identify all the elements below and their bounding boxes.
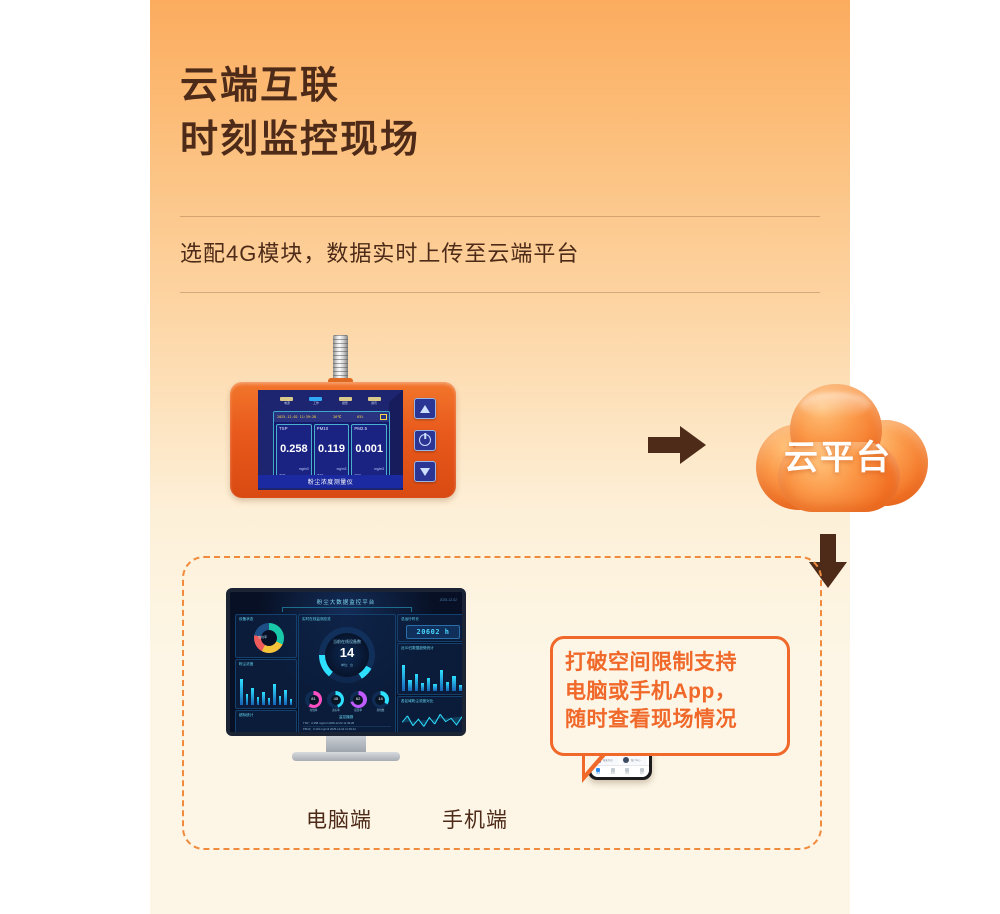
reading-card-tsp: TSP 0.258 mg/m3 实时: [276, 424, 312, 480]
dashboard-corner-text: 2025-12-02: [440, 598, 457, 602]
dashboard-title-decoration: [282, 607, 412, 612]
reading-unit-pm25: mg/m3: [374, 467, 384, 471]
dashboard-panel-trend: 近30日数据趋势统计: [397, 643, 466, 695]
region-line-chart: [402, 712, 462, 734]
bar-2: [408, 680, 411, 691]
content-column: 云端互联 时刻监控现场 选配4G模块，数据实时上传至云端平台 电源: [150, 0, 850, 914]
reading-value-tsp: 0.258: [277, 443, 311, 455]
dust-meter-device: 电源 工作 报警 通讯: [220, 330, 470, 510]
reading-unit-tsp: mg/m3: [299, 467, 309, 471]
up-key-button[interactable]: [414, 398, 436, 419]
page-subtitle: 选配4G模块，数据实时上传至云端平台: [180, 236, 820, 271]
label-mobile-endpoint: 手机端: [442, 804, 508, 834]
reading-name-pm10: PM10: [317, 426, 328, 431]
reading-card-pm25: PM2.5 0.001 mg/m3 实时: [351, 424, 387, 480]
runtime-hours-box: 20602 h: [406, 625, 460, 639]
page-title-line1: 云端互联: [180, 60, 820, 114]
bar-1: [240, 679, 243, 705]
bar-6: [433, 684, 436, 691]
dashboard-title: 粉尘大数据监控平台: [230, 598, 462, 606]
bar-7: [273, 684, 276, 705]
bar-4: [257, 697, 260, 705]
mini-label-2: 达标率: [327, 710, 344, 713]
device-case: 电源 工作 报警 通讯: [230, 382, 456, 498]
battery-icon: [380, 414, 387, 420]
lcd-temperature: 26℃: [333, 415, 341, 419]
panel-title-device-status: 设备状态: [239, 617, 253, 622]
phone-tab-label-alarm: 报警: [620, 772, 635, 775]
mini-label-3: 报警率: [350, 710, 367, 713]
reading-card-pm10: PM10 0.119 mg/m3 实时: [314, 424, 350, 480]
dashboard: 粉尘大数据监控平台 2025-12-02 设备状态 在线率 粉尘浓度 超标统计: [230, 592, 462, 732]
led-power: 电源: [277, 397, 297, 405]
trend-bar-chart: [402, 665, 462, 691]
reading-unit-pm10: mg/m3: [337, 467, 347, 471]
down-key-button[interactable]: [414, 461, 436, 482]
bar-5: [262, 692, 265, 705]
lcd-reading-cards: TSP 0.258 mg/m3 实时 PM10 0.119 mg/m3 实时: [274, 422, 389, 482]
mini-ring-1: 81: [305, 691, 322, 708]
mini-label-4: 离线数: [372, 710, 389, 713]
bar-9: [452, 676, 455, 691]
panel-title-overview: 实时在线监测总览: [302, 617, 331, 622]
divider-bottom: [180, 292, 820, 293]
panel-title-trend: 近30日数据趋势统计: [401, 646, 434, 651]
cloud-platform-label: 云平台: [738, 430, 938, 479]
dashboard-panel-concentration: 粉尘浓度: [235, 659, 297, 709]
led-comm: 通讯: [364, 397, 384, 405]
callout-line1: 打破空间限制支持: [565, 649, 775, 678]
triangle-up-icon: [420, 405, 430, 413]
mini-ring-4: 14: [372, 691, 389, 708]
panel-title-region-compare: 各区域粉尘浓度对比: [401, 699, 433, 704]
user-icon: [623, 757, 629, 763]
infographic-page: 云端互联 时刻监控现场 选配4G模块，数据实时上传至云端平台 电源: [0, 0, 1000, 914]
mini-label-1: 在线率: [305, 710, 322, 713]
bar-10: [290, 699, 293, 705]
bar-4: [421, 683, 424, 691]
page-title-line2: 时刻监控现场: [180, 114, 820, 168]
bar-5: [427, 678, 430, 691]
gauge-subtext: 单位：台: [319, 663, 375, 667]
phone-tab-alarm[interactable]: 报警: [620, 766, 635, 777]
cloud-gloss-highlight: [800, 392, 870, 418]
bar-3: [415, 674, 418, 691]
callout-bubble: 打破空间限制支持 电脑或手机App， 随时查看现场情况: [550, 636, 790, 756]
mini-value-3: 62: [350, 696, 367, 701]
monitor-log-rows: TSP：0.258 mg/m3 2025-12-02 11:39:28PM10：…: [303, 721, 391, 736]
sensor-probe-icon: [333, 335, 348, 383]
callout-line3: 随时查看现场情况: [565, 706, 775, 735]
panel-title-concentration: 粉尘浓度: [239, 662, 253, 667]
concentration-bar-chart: [240, 679, 292, 705]
donut-center-label: 在线率: [258, 635, 267, 639]
bar-1: [402, 665, 405, 691]
power-icon: [419, 434, 431, 446]
led-label-alarm: 报警: [336, 402, 354, 405]
mini-ring-2: 45: [327, 691, 344, 708]
header-block: 云端互联 时刻监控现场: [180, 60, 820, 168]
arrow-right-body: [648, 437, 680, 453]
bar-10: [459, 685, 462, 691]
dashboard-panel-exceed-stats: 超标统计: [235, 710, 297, 736]
dashboard-panel-region-compare: 各区域粉尘浓度对比: [397, 696, 466, 736]
arrow-right-head: [680, 426, 706, 464]
runtime-hours-value: 20602 h: [416, 628, 449, 636]
mini-gauge-row: 81 在线率 45 达标率: [305, 691, 389, 713]
label-pc-endpoint: 电脑端: [306, 804, 372, 834]
panel-title-log: 监控播报: [339, 715, 353, 720]
dashboard-panel-overview: 实时在线监测总览 当前在线设备数 14 单位：台 81 在线率: [298, 614, 396, 736]
bar-6: [268, 698, 271, 705]
callout-line2: 电脑或手机App，: [565, 678, 775, 707]
device-brand-label: 粉尘浓度测量仪: [308, 477, 354, 486]
divider-top: [180, 216, 820, 217]
log-row-2: PM10：0.119 mg/m3 2025-12-02 11:39:12: [303, 727, 391, 733]
arrow-right-icon: [648, 426, 706, 464]
mini-value-4: 14: [372, 696, 389, 701]
reading-name-tsp: TSP: [279, 426, 288, 431]
phone-tab-label-profile: 我的: [635, 772, 650, 775]
lcd-battery-pct: 65%: [358, 415, 364, 419]
bar-9: [284, 690, 287, 705]
phone-tab-profile[interactable]: 我的: [635, 766, 650, 777]
device-led-row: 电源 工作 报警 通讯: [272, 394, 389, 408]
led-work: 工作: [306, 397, 326, 405]
dashboard-panel-runtime: 总运行时长 20602 h: [397, 614, 466, 642]
power-key-button[interactable]: [414, 430, 436, 451]
device-lcd-screen: 2025-12-02 11:39:28 26℃ 65% TSP 0.258 mg…: [273, 411, 390, 483]
phone-grid-label-account: 账户中心: [631, 758, 641, 762]
cloud-platform-graphic: 云平台: [738, 376, 938, 521]
mini-value-1: 81: [305, 696, 322, 701]
reading-value-pm10: 0.119: [315, 443, 349, 455]
mini-gauge-4: 14 离线数: [372, 691, 389, 713]
led-label-comm: 通讯: [365, 402, 383, 405]
gauge-value: 14: [319, 645, 375, 660]
mini-ring-3: 62: [350, 691, 367, 708]
triangle-down-icon: [420, 468, 430, 476]
bar-2: [246, 694, 249, 705]
mini-gauge-3: 62 报警率: [350, 691, 367, 713]
bar-8: [446, 682, 449, 691]
monitor-stand-foot: [292, 752, 400, 761]
led-label-power: 电源: [278, 402, 296, 405]
mini-gauge-1: 81 在线率: [305, 691, 322, 713]
reading-name-pm25: PM2.5: [354, 426, 367, 431]
mini-value-2: 45: [327, 696, 344, 701]
led-alarm: 报警: [335, 397, 355, 405]
lcd-status-bar: 2025-12-02 11:39:28 26℃ 65%: [274, 412, 389, 422]
reading-value-pm25: 0.001: [352, 443, 386, 455]
bar-8: [279, 696, 282, 705]
device-brand-bar: 粉尘浓度测量仪: [258, 475, 403, 488]
desktop-monitor: 粉尘大数据监控平台 2025-12-02 设备状态 在线率 粉尘浓度 超标统计: [226, 588, 466, 763]
lcd-datetime: 2025-12-02 11:39:28: [277, 415, 316, 419]
dashboard-panel-device-status: 设备状态 在线率: [235, 614, 297, 658]
mini-gauge-2: 45 达标率: [327, 691, 344, 713]
bar-7: [440, 670, 443, 691]
panel-title-exceed-stats: 超标统计: [239, 713, 253, 718]
bar-3: [251, 688, 254, 705]
panel-title-runtime: 总运行时长: [401, 617, 419, 622]
monitor-screen: 粉尘大数据监控平台 2025-12-02 设备状态 在线率 粉尘浓度 超标统计: [226, 588, 466, 736]
led-label-work: 工作: [307, 402, 325, 405]
device-keypad: [412, 398, 438, 482]
